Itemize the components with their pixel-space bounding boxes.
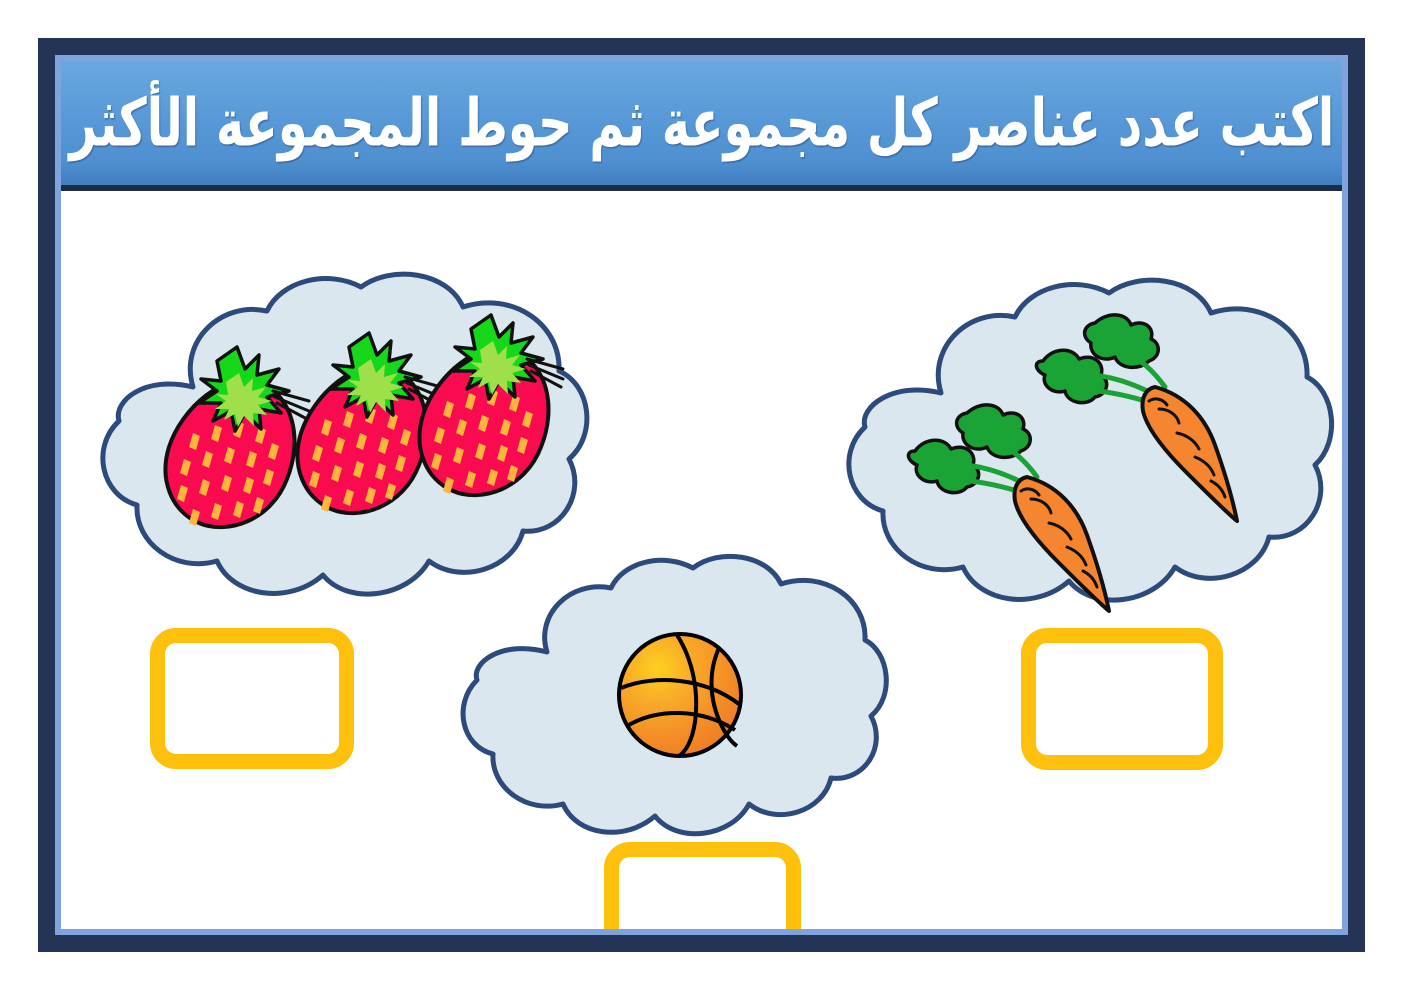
instruction-banner: اكتب عدد عناصر كل مجموعة ثم حوط المجموعة…	[61, 61, 1342, 191]
instruction-text: اكتب عدد عناصر كل مجموعة ثم حوط المجموعة…	[69, 89, 1334, 164]
answer-box-strawberries[interactable]	[150, 628, 354, 769]
group-basketball	[443, 554, 913, 844]
answer-box-carrots[interactable]	[1021, 628, 1223, 770]
worksheet-sheet: اكتب عدد عناصر كل مجموعة ثم حوط المجموعة…	[61, 61, 1342, 929]
basketball-icon	[615, 630, 745, 760]
worksheet-page: اكتب عدد عناصر كل مجموعة ثم حوط المجموعة…	[0, 0, 1403, 992]
carrot-icon	[891, 395, 1151, 645]
worksheet-board	[61, 191, 1342, 929]
strawberry-icon	[407, 307, 567, 507]
answer-box-basketball[interactable]	[604, 842, 801, 929]
